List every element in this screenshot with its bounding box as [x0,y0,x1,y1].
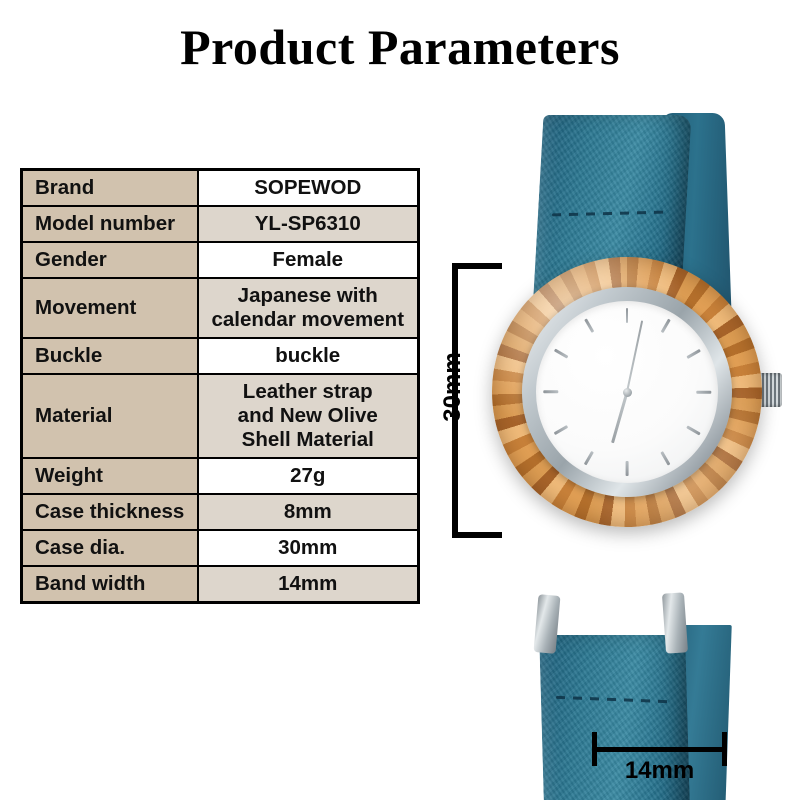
spec-value-gender: Female [198,242,419,278]
table-row: Buckle buckle [22,338,419,374]
product-photo: 30mm 14mm [430,95,800,800]
spec-label-model-number: Model number [22,206,198,242]
spec-value-line: Shell Material [207,428,410,452]
spec-label-movement: Movement [22,278,198,338]
table-row: Model number YL-SP6310 [22,206,419,242]
spec-label-band-width: Band width [22,566,198,602]
spec-value-movement: Japanese with calendar movement [198,278,419,338]
table-row: Band width 14mm [22,566,419,602]
band-width-label: 14mm [592,757,727,785]
dial-marker [696,391,711,394]
dial-marker [554,425,568,435]
watch-case-bezel [492,257,762,527]
dimension-line-horizontal [592,747,727,752]
dial-marker [554,349,568,359]
dial-marker [584,451,594,465]
spec-label-weight: Weight [22,458,198,494]
dial-marker [686,349,700,359]
table-row: Weight 27g [22,458,419,494]
dial-marker [660,451,670,465]
spec-value-weight: 27g [198,458,419,494]
watch-steel-ring [522,287,732,497]
spec-value-line: Japanese with [207,284,410,308]
table-row: Gender Female [22,242,419,278]
spec-value-line: and New Olive [207,404,410,428]
specification-table: Brand SOPEWOD Model number YL-SP6310 Gen… [20,168,420,604]
product-parameters-page: Product Parameters Brand SOPEWOD Model n… [0,0,800,800]
spec-value-buckle: buckle [198,338,419,374]
watch-lug-bottom-right [662,592,688,653]
table-row: Material Leather strap and New Olive She… [22,374,419,458]
dial-marker [686,425,700,435]
spec-value-material: Leather strap and New Olive Shell Materi… [198,374,419,458]
spec-label-gender: Gender [22,242,198,278]
watch-hour-hand [611,392,628,444]
table-row: Case thickness 8mm [22,494,419,530]
case-diameter-label: 30mm [439,352,467,422]
dial-marker [584,319,594,333]
spec-value-case-dia: 30mm [198,530,419,566]
spec-value-model-number: YL-SP6310 [198,206,419,242]
spec-label-case-dia: Case dia. [22,530,198,566]
watch-minute-hand [626,320,643,392]
spec-value-line: Leather strap [207,380,410,404]
specification-table-body: Brand SOPEWOD Model number YL-SP6310 Gen… [22,170,419,603]
watch-dial [536,301,718,483]
dial-marker [626,461,629,476]
table-row: Movement Japanese with calendar movement [22,278,419,338]
page-title: Product Parameters [0,18,800,76]
table-row: Case dia. 30mm [22,530,419,566]
spec-label-material: Material [22,374,198,458]
dimension-cap-bottom [452,532,502,538]
spec-value-line: calendar movement [207,308,410,332]
spec-label-brand: Brand [22,170,198,206]
watch-hand-cap [623,388,632,397]
dial-marker [626,308,629,323]
dial-marker [543,391,558,394]
spec-value-band-width: 14mm [198,566,419,602]
table-row: Brand SOPEWOD [22,170,419,206]
dimension-cap-top [452,263,502,269]
spec-value-case-thickness: 8mm [198,494,419,530]
spec-label-buckle: Buckle [22,338,198,374]
spec-value-brand: SOPEWOD [198,170,419,206]
spec-label-case-thickness: Case thickness [22,494,198,530]
dial-marker [660,319,670,333]
